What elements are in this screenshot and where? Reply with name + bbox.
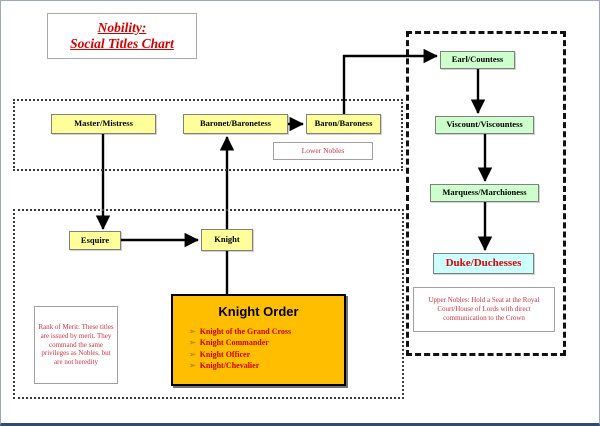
knight-order-title: Knight Order [173,304,344,319]
node-duke-duchesses[interactable]: Duke/Duchesses [433,253,534,274]
lower-nobles-group-frame [13,99,403,171]
list-item: ➢Knight Officer [189,349,344,360]
bullet-arrow-icon: ➢ [189,350,196,359]
node-baronet-baronetess[interactable]: Baronet/Baronetess [183,114,288,134]
rank-of-merit-note: Rank of Merit: These titles are issued b… [34,306,118,384]
knight-rank-label: Knight Commander [200,338,269,347]
bullet-arrow-icon: ➢ [189,338,196,347]
node-earl-countess[interactable]: Earl/Countess [440,51,515,69]
knight-order-rank-list: ➢Knight of the Grand Cross ➢Knight Comma… [173,326,344,371]
list-item: ➢Knight of the Grand Cross [189,326,344,337]
list-item: ➢Knight/Chevalier [189,360,344,371]
diagram-canvas: Nobility: Social Titles Chart Master/Mis… [1,1,597,415]
bullet-arrow-icon: ➢ [189,327,196,336]
list-item: ➢Knight Commander [189,337,344,348]
knight-rank-label: Knight of the Grand Cross [200,327,291,336]
node-knight[interactable]: Knight [201,229,253,251]
chart-title: Nobility: Social Titles Chart [47,13,197,59]
chart-title-line2: Social Titles Chart [70,36,174,52]
node-viscount-viscountess[interactable]: Viscount/Viscountess [435,116,534,134]
node-master-mistress[interactable]: Master/Mistress [51,114,156,134]
node-baron-baroness[interactable]: Baron/Baroness [306,114,381,134]
chart-page: Nobility: Social Titles Chart Master/Mis… [0,0,600,426]
knight-rank-label: Knight Officer [200,350,250,359]
node-esquire[interactable]: Esquire [69,231,121,250]
knight-rank-label: Knight/Chevalier [200,361,260,370]
chart-title-line1: Nobility: [98,20,147,36]
knight-order-box[interactable]: Knight Order ➢Knight of the Grand Cross … [171,294,346,386]
node-marquess-marchioness[interactable]: Marquess/Marchioness [430,184,539,202]
bullet-arrow-icon: ➢ [189,361,196,370]
lower-nobles-label: Lower Nobles [273,142,373,160]
upper-nobles-note: Upper Nobles: Hold a Seat at the Royal C… [413,287,555,332]
